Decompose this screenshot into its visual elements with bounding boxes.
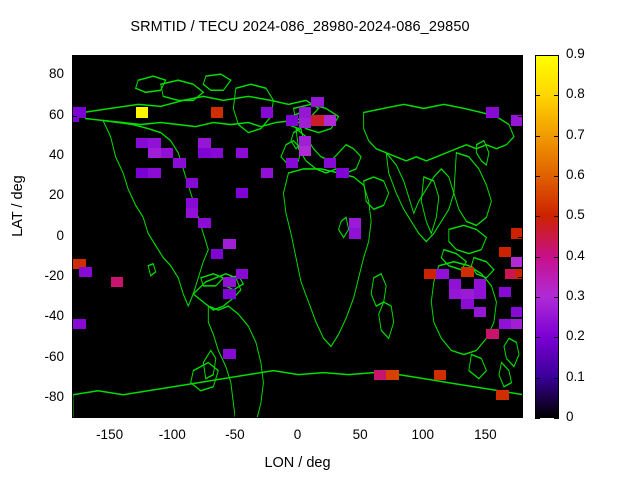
x-tick-mark <box>485 413 486 418</box>
map-data-cell <box>449 289 462 299</box>
x-tick-mark <box>485 55 486 60</box>
x-tick-label: -100 <box>142 427 202 442</box>
x-tick-mark <box>110 55 111 60</box>
map-data-cell <box>424 269 437 279</box>
map-data-cell <box>198 138 211 148</box>
map-data-cell <box>111 277 124 287</box>
colorbar-tick-label: 0.3 <box>566 288 610 303</box>
colorbar-gradient <box>536 56 558 417</box>
colorbar-tick-mark <box>554 136 559 137</box>
colorbar-tick-label: 0 <box>566 409 610 424</box>
x-tick-mark <box>235 413 236 418</box>
map-data-cell <box>223 289 236 299</box>
x-tick-label: 100 <box>393 427 453 442</box>
y-tick-mark <box>518 75 523 76</box>
colorbar-tick-mark <box>535 136 540 137</box>
map-data-cell <box>299 107 312 117</box>
x-tick-mark <box>172 55 173 60</box>
x-tick-label: -50 <box>205 427 265 442</box>
map-data-cell <box>374 370 387 380</box>
map-data-cell <box>236 188 249 198</box>
x-tick-mark <box>298 413 299 418</box>
map-data-cell <box>349 218 362 228</box>
map-data-cell <box>173 158 186 168</box>
colorbar-tick-mark <box>554 297 559 298</box>
map-data-cell <box>386 370 399 380</box>
map-data-cell <box>211 107 224 117</box>
data-cells-layer <box>73 56 523 418</box>
map-data-cell <box>511 115 523 125</box>
map-data-cell <box>434 370 447 380</box>
map-data-cell <box>261 168 274 178</box>
colorbar-tick-mark <box>535 418 540 419</box>
x-tick-mark <box>423 413 424 418</box>
map-data-cell <box>486 107 499 117</box>
colorbar-tick-mark <box>535 95 540 96</box>
map-data-cell <box>299 146 312 156</box>
y-tick-mark <box>72 398 77 399</box>
y-tick-mark <box>518 196 523 197</box>
page-title: SRMTID / TECU 2024-086_28980-2024-086_29… <box>0 19 600 35</box>
map-data-cell <box>286 158 299 168</box>
y-tick-mark <box>518 398 523 399</box>
y-tick-label: 80 <box>16 66 64 81</box>
map-data-cell <box>236 269 249 279</box>
y-tick-mark <box>518 358 523 359</box>
colorbar-tick-mark <box>535 176 540 177</box>
map-data-cell <box>73 319 86 329</box>
y-tick-mark <box>72 277 77 278</box>
colorbar-tick-mark <box>554 216 559 217</box>
map-data-cell <box>186 198 199 208</box>
map-data-cell <box>148 148 161 158</box>
colorbar-tick-mark <box>554 176 559 177</box>
x-tick-label: 150 <box>455 427 515 442</box>
y-tick-mark <box>72 116 77 117</box>
map-data-cell <box>511 307 523 317</box>
y-tick-mark <box>72 317 77 318</box>
map-data-cell <box>186 178 199 188</box>
map-data-cell <box>148 168 161 178</box>
map-data-cell <box>324 115 337 125</box>
map-data-cell <box>211 148 224 158</box>
x-tick-mark <box>423 55 424 60</box>
y-tick-mark <box>72 156 77 157</box>
map-data-cell <box>511 257 523 267</box>
map-data-cell <box>499 247 512 257</box>
y-tick-mark <box>72 237 77 238</box>
colorbar-tick-label: 0.6 <box>566 167 610 182</box>
colorbar-tick-label: 0.9 <box>566 46 610 61</box>
colorbar-tick-mark <box>535 257 540 258</box>
map-data-cell <box>461 267 474 277</box>
x-tick-mark <box>360 413 361 418</box>
x-tick-mark <box>172 413 173 418</box>
map-data-cell <box>286 115 299 125</box>
map-data-cell <box>496 390 509 400</box>
x-axis-label: LON / deg <box>72 455 523 471</box>
x-tick-mark <box>235 55 236 60</box>
map-data-cell <box>211 249 224 259</box>
map-data-cell <box>223 239 236 249</box>
y-tick-mark <box>72 196 77 197</box>
map-data-cell <box>236 148 249 158</box>
map-data-cell <box>299 136 312 146</box>
colorbar-tick-mark <box>535 55 540 56</box>
map-data-cell <box>223 349 236 359</box>
colorbar-tick-label: 0.8 <box>566 86 610 101</box>
map-data-cell <box>461 299 474 309</box>
colorbar-tick-label: 0.1 <box>566 369 610 384</box>
y-tick-label: 40 <box>16 147 64 162</box>
y-tick-label: -20 <box>16 268 64 283</box>
colorbar-tick-mark <box>535 297 540 298</box>
map-data-cell <box>136 107 149 117</box>
map-data-cell <box>474 289 487 299</box>
map-data-cell <box>198 148 211 158</box>
map-data-cell <box>474 307 487 317</box>
colorbar-tick-label: 0.2 <box>566 328 610 343</box>
map-data-cell <box>198 218 211 228</box>
colorbar-tick-mark <box>554 337 559 338</box>
colorbar-tick-mark <box>554 378 559 379</box>
y-tick-label: 0 <box>16 228 64 243</box>
colorbar-tick-mark <box>554 418 559 419</box>
map-data-cell <box>299 118 312 128</box>
map-data-cell <box>261 107 274 117</box>
map-data-cell <box>461 289 474 299</box>
map-data-cell <box>311 97 324 107</box>
colorbar-tick-label: 0.7 <box>566 127 610 142</box>
map-data-cell <box>474 279 487 289</box>
map-data-cell <box>223 277 236 287</box>
colorbar-tick-mark <box>554 55 559 56</box>
y-tick-mark <box>518 116 523 117</box>
map-data-cell <box>449 279 462 289</box>
x-tick-label: 0 <box>268 427 328 442</box>
map-data-cell <box>161 148 174 158</box>
colorbar-tick-mark <box>535 337 540 338</box>
y-tick-label: 20 <box>16 187 64 202</box>
map-data-cell <box>148 138 161 148</box>
colorbar-tick-mark <box>554 95 559 96</box>
map-data-cell <box>349 228 362 238</box>
y-tick-mark <box>518 156 523 157</box>
map-plot-area <box>72 55 523 418</box>
y-tick-label: 60 <box>16 107 64 122</box>
y-tick-label: -80 <box>16 389 64 404</box>
colorbar-tick-mark <box>535 216 540 217</box>
map-data-cell <box>186 208 199 218</box>
map-data-cell <box>499 319 512 329</box>
map-data-cell <box>486 329 499 339</box>
colorbar-tick-mark <box>535 378 540 379</box>
x-tick-mark <box>298 55 299 60</box>
colorbar-tick-mark <box>554 257 559 258</box>
x-tick-mark <box>360 55 361 60</box>
colorbar <box>535 55 559 418</box>
y-tick-label: -60 <box>16 349 64 364</box>
y-tick-label: -40 <box>16 308 64 323</box>
x-tick-label: 50 <box>330 427 390 442</box>
x-tick-label: -150 <box>80 427 140 442</box>
map-data-cell <box>311 115 324 125</box>
colorbar-tick-label: 0.5 <box>566 207 610 222</box>
map-data-cell <box>499 287 512 297</box>
y-tick-mark <box>518 317 523 318</box>
map-data-cell <box>79 267 92 277</box>
map-data-cell <box>511 319 523 329</box>
y-tick-mark <box>72 358 77 359</box>
colorbar-tick-label: 0.4 <box>566 248 610 263</box>
map-data-cell <box>324 158 337 168</box>
map-data-cell <box>136 138 149 148</box>
x-tick-mark <box>110 413 111 418</box>
map-data-cell <box>136 168 149 178</box>
y-tick-mark <box>72 75 77 76</box>
map-data-cell <box>336 168 349 178</box>
y-tick-mark <box>518 277 523 278</box>
y-tick-mark <box>518 237 523 238</box>
map-data-cell <box>436 269 449 279</box>
